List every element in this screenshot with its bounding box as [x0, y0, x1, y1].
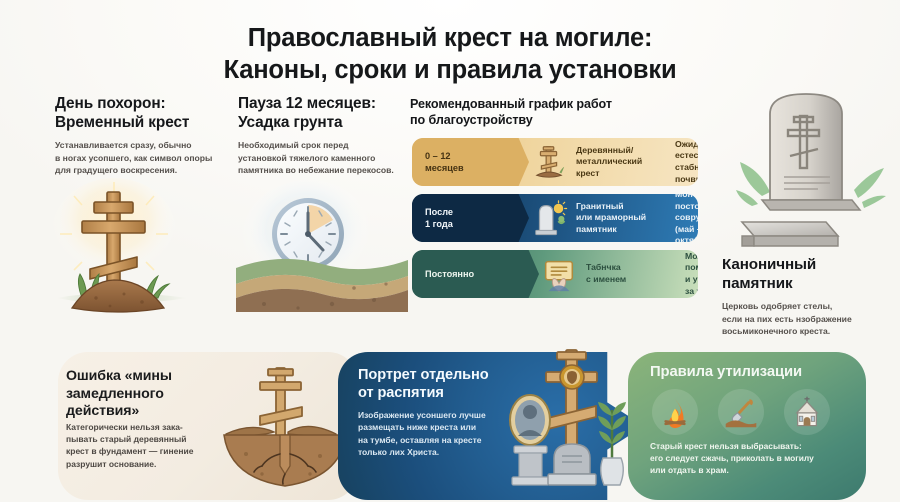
card-portrait-title-line-1: Портрет отдельно [358, 366, 538, 384]
canonical-monument-body-line-1: Церковь одобряет стелы, [722, 300, 887, 313]
card-mistake-body-line-2: пывать старый деревянный [66, 433, 238, 445]
canonical-monument-heading-line-2: памятник [722, 275, 882, 294]
pause-body: Необходимый срок перед установкой тяжело… [238, 139, 413, 177]
card-disposal-body-line-3: или отдать в храм. [650, 464, 864, 476]
schedule-heading-line-2: по благоустройству [410, 112, 690, 128]
timeline-period-line-1: Постоянно [425, 268, 513, 280]
timeline-marker-type: Гранитный или мраморный памятник [572, 201, 668, 236]
timeline-period-line-2: 1 года [425, 218, 503, 230]
timeline-description-line-2: естественной [675, 150, 698, 162]
funeral-day-heading: День похорон: Временный крест [55, 95, 230, 133]
pause-heading: Пауза 12 месяцев: Усадка грунта [238, 95, 408, 133]
card-portrait-body-line-1: Изображение усоншего лучше [358, 409, 542, 421]
timeline-description: Монтаж постоянного совружения (май – окт… [675, 194, 698, 242]
timeline-description-line-1: Монтаж постоянного [675, 194, 698, 212]
timeline-marker-line-1: Деревянный/ [576, 145, 668, 157]
canonical-monument-body-line-3: восьмиконечного креста. [722, 325, 887, 338]
timeline-description-line-1: Молитвенное [685, 251, 698, 263]
pause-body-line-2: установкой тяжелого каменного [238, 152, 413, 165]
timeline-marker-line-3: крест [576, 168, 668, 180]
gravestone-icon [526, 199, 572, 237]
card-portrait-title-line-2: от распятия [358, 384, 538, 402]
card-mistake-title-line-2: замедленного [66, 386, 236, 404]
card-disposal-title: Правила утилизации [650, 363, 860, 381]
timeline-description-line-3: стабнлизации почвы [675, 162, 698, 185]
card-portrait-body-line-3: на тумбе, оставляя на кресте [358, 434, 542, 446]
timeline-marker-line-2: металлический [576, 156, 668, 168]
wooden-cross-icon [526, 143, 572, 181]
funeral-day-body-line-2: в ногах усопшего, как символ опоры [55, 152, 235, 165]
timeline-marker-type: Табнчка с именем [582, 262, 678, 285]
funeral-day-body: Устанавливается сразу, обычно в ногах ус… [55, 139, 235, 177]
page-title: Православный крест на могиле: Каноны, ср… [0, 22, 900, 86]
timeline-marker-line-3: памятник [576, 224, 668, 236]
granite-stele-illustration [734, 84, 886, 254]
timeline-marker-line-1: Табнчка [586, 262, 678, 274]
card-disposal-body: Старый крест нельзя выбрасывать: его сле… [650, 440, 864, 476]
card-mistake-body-line-4: разрушит основание. [66, 458, 238, 470]
page-title-line-2: Каноны, сроки и правила установки [0, 54, 900, 86]
shovel-icon [718, 389, 764, 435]
card-mistake-body-line-1: Категорически нельзя зака- [66, 421, 238, 433]
pause-body-line-3: памятника во небежание перекосов. [238, 164, 413, 177]
card-disposal-body-line-2: его следует сжачь, приколать в могилу [650, 452, 864, 464]
timeline-period-label: После 1 года [412, 194, 518, 242]
card-mistake-title: Ошибка «мины замедленного действия» [66, 368, 236, 421]
card-portrait-body: Изображение усоншего лучше размещать ниж… [358, 409, 542, 459]
timeline-row-permanent[interactable]: Постоянно Табнчка с именем Молитвенное п… [412, 250, 698, 298]
timeline-row-0-12-months[interactable]: 0 – 12 месяцев Деревянный/ металлический… [412, 138, 698, 186]
funeral-day-heading-line-2: Временный крест [55, 114, 230, 133]
canonical-monument-body-line-2: если на пих есть нзображение [722, 313, 887, 326]
timeline-description-line-2: совружения [675, 212, 698, 224]
timeline-marker-line-1: Гранитный [576, 201, 668, 213]
funeral-day-body-line-3: для градущего воскресения. [55, 164, 235, 177]
infographic-page: Православный крест на могиле: Каноны, ср… [0, 0, 900, 502]
timeline-marker-line-2: с именем [586, 274, 678, 286]
card-disposal-body-line-1: Старый крест нельзя выбрасывать: [650, 440, 864, 452]
timeline-description-line-1: Ожидание [675, 139, 698, 151]
timeline-period-line-1: 0 – 12 [425, 150, 503, 162]
card-disposal-title-line-1: Правила утилизации [650, 363, 860, 381]
timeline-marker-type: Деревянный/ металлический крест [572, 145, 668, 180]
timeline-description: Ожидание естественной стабнлизации почвы [675, 139, 698, 186]
card-mistake-title-line-3: действия» [66, 403, 236, 421]
page-title-line-1: Православный крест на могиле: [248, 24, 653, 52]
canonical-monument-heading: Каноничный памятник [722, 256, 882, 293]
timeline-period-label: Постоянно [412, 250, 528, 298]
fire-icon [652, 389, 698, 435]
timeline-period-line-2: месяцев [425, 162, 503, 174]
pause-heading-line-1: Пауза 12 месяцев: [238, 95, 408, 114]
card-mistake-body-line-3: крест в фундамент — гинение [66, 445, 238, 457]
wooden-cross-on-mound-illustration [52, 176, 232, 322]
pause-heading-line-2: Усадка грунта [238, 114, 408, 133]
canonical-monument-heading-line-1: Каноничный [722, 256, 882, 275]
timeline-period-line-1: После [425, 206, 503, 218]
pause-body-line-1: Необходимый срок перед [238, 139, 413, 152]
card-portrait-body-line-4: только лих Христа. [358, 446, 542, 458]
card-portrait-body-line-2: размещать ниже креста или [358, 421, 542, 433]
schedule-heading-line-1: Рекомендованный график работ [410, 96, 690, 112]
card-mistake-body: Категорически нельзя зака- пывать старый… [66, 421, 238, 470]
name-plaque-icon [536, 255, 582, 293]
timeline-period-label: 0 – 12 месяцев [412, 138, 518, 186]
timeline-marker-line-2: или мраморный [576, 212, 668, 224]
disposal-icon-row [652, 388, 864, 436]
card-mistake-title-line-1: Ошибка «мины [66, 368, 236, 386]
funeral-day-heading-line-1: День похорон: [55, 95, 230, 114]
timeline-description-line-3: за участком [685, 286, 698, 298]
timeline-description: Молитвенное поминование и уход за участк… [685, 251, 698, 298]
card-portrait-title: Портрет отдельно от распятия [358, 366, 538, 402]
clock-over-soil-layers-illustration [236, 180, 408, 312]
timeline-row-after-one-year[interactable]: После 1 года Гранитный или мраморный пам… [412, 194, 698, 242]
canonical-monument-body: Церковь одобряет стелы, если на пих есть… [722, 300, 887, 338]
buried-cross-illustration [222, 362, 348, 494]
timeline-description-line-2: поминование и уход [685, 262, 698, 285]
timeline-description-line-3: (май – октябрь) [675, 224, 698, 242]
church-icon [784, 389, 830, 435]
schedule-heading: Рекомендованный график работ по благоуст… [410, 96, 690, 129]
funeral-day-body-line-1: Устанавливается сразу, обычно [55, 139, 235, 152]
